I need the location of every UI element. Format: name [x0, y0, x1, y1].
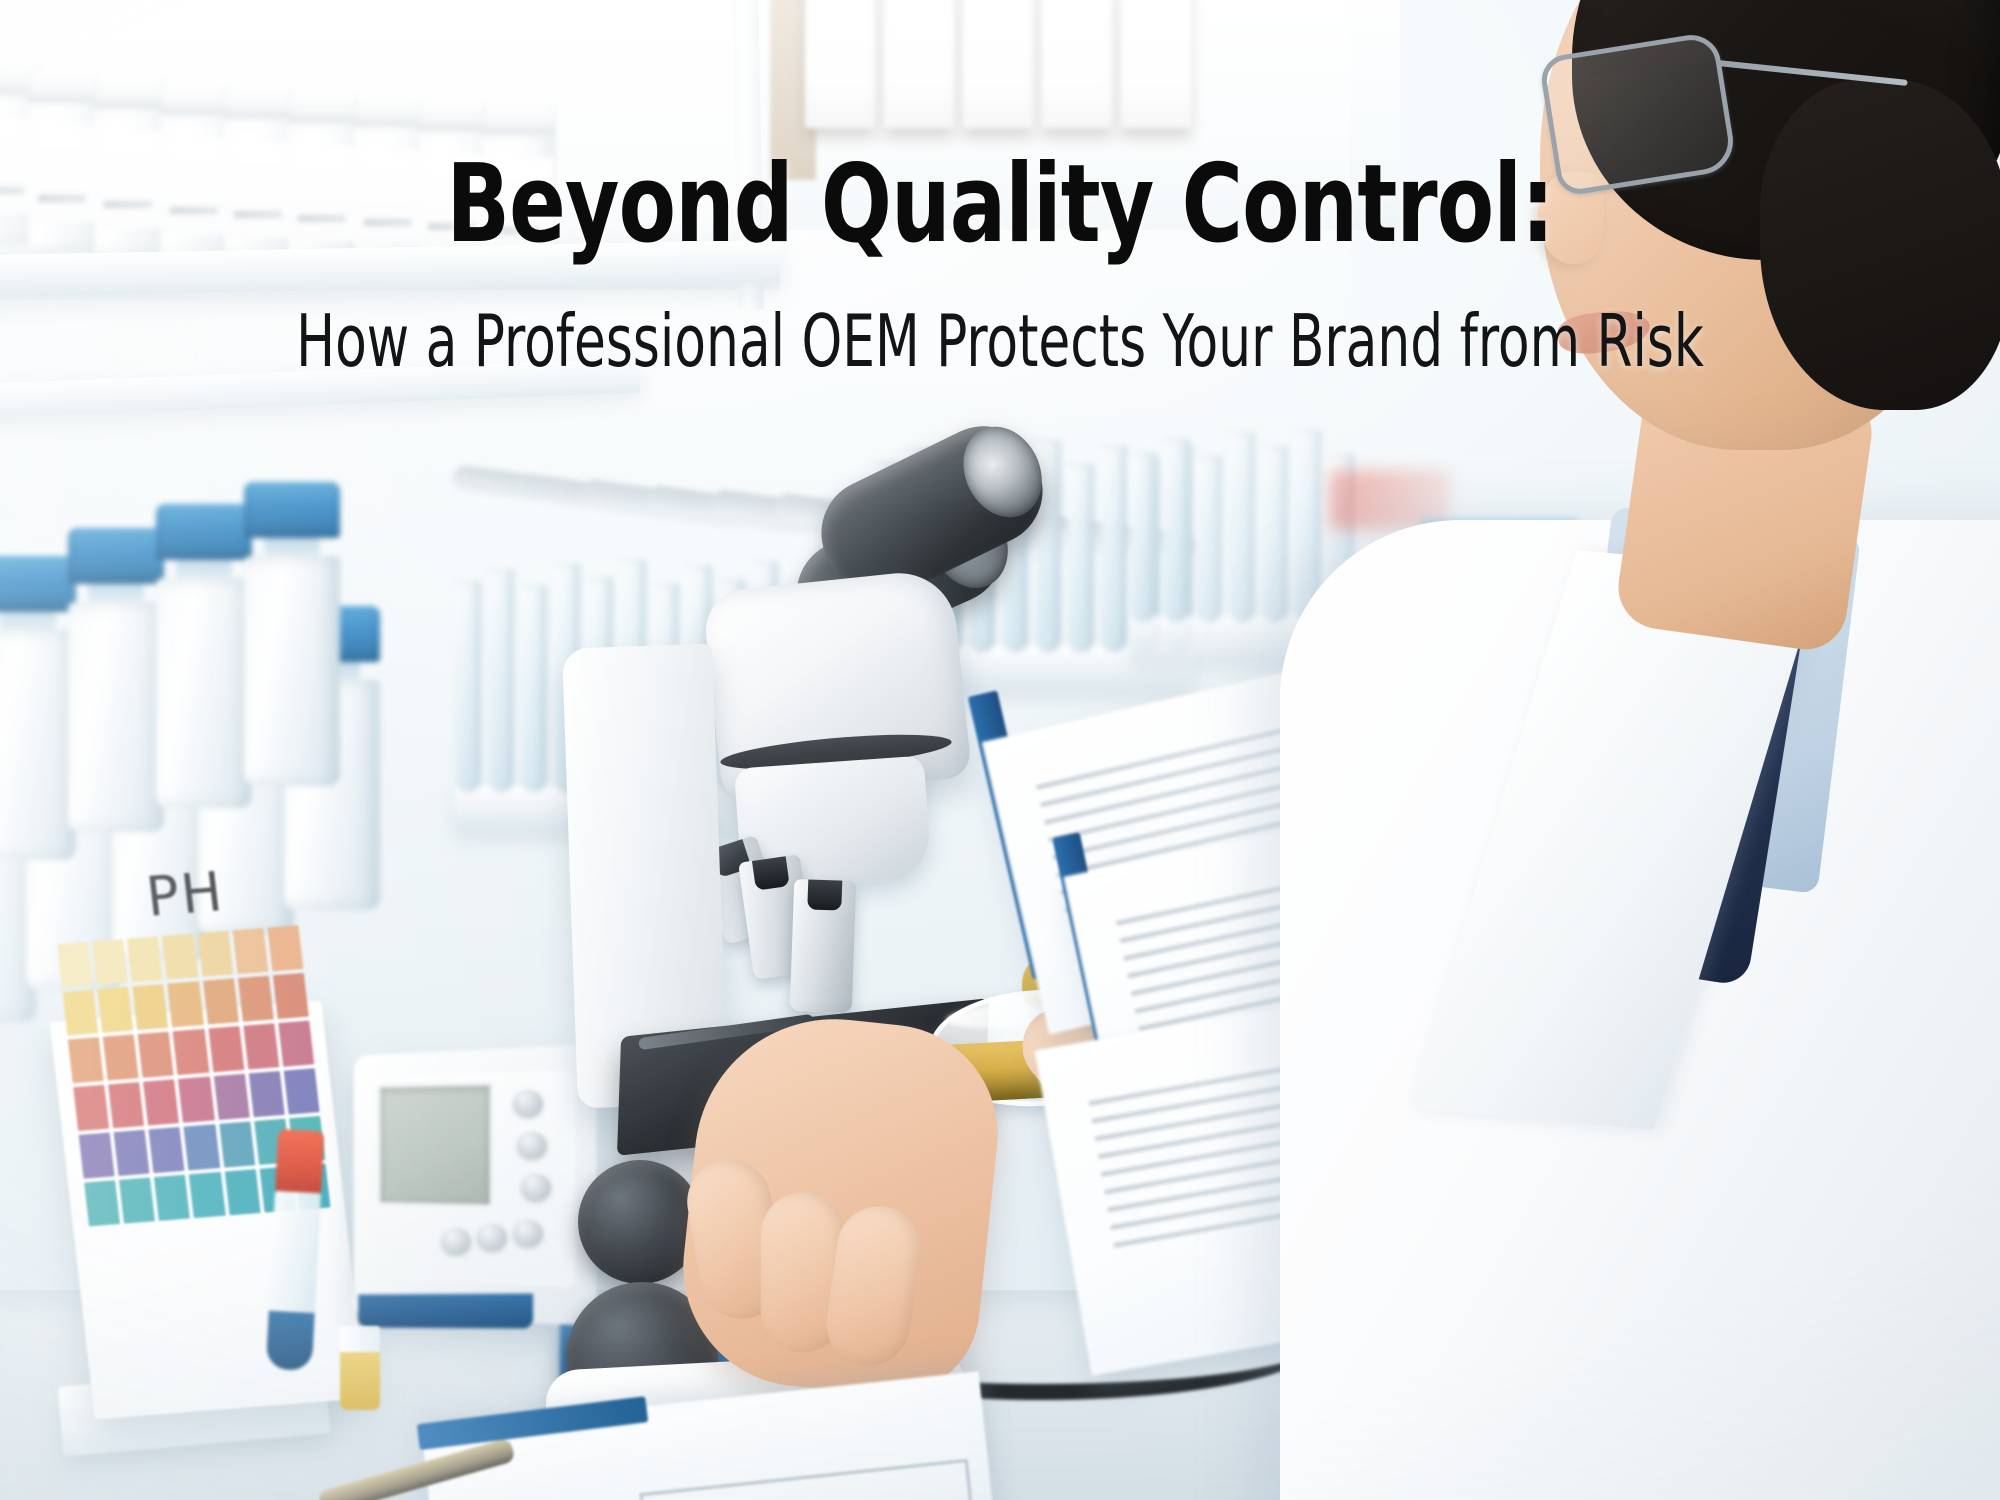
blue-cap-bottle: [244, 482, 340, 786]
eyeglasses: [1548, 4, 1878, 194]
vial: [288, 88, 362, 272]
vial: [160, 80, 234, 264]
ph-meter-instrument: [345, 1050, 595, 1320]
ph-meter-button[interactable]: [514, 1090, 543, 1116]
hero-banner: PH: [0, 0, 2000, 1500]
ph-meter-button[interactable]: [514, 1220, 543, 1246]
lab-photo-scene: PH: [0, 0, 2000, 1500]
blue-cap-bottle: [68, 528, 164, 832]
ph-meter-lcd-display: [378, 1083, 493, 1208]
ph-meter-button[interactable]: [518, 1132, 547, 1158]
vial: [94, 74, 168, 258]
storage-box-row: [805, 0, 1191, 128]
microscope-objective-lens: [790, 879, 857, 1013]
ph-meter-button[interactable]: [442, 1228, 471, 1254]
scientist: [1160, 0, 2000, 1500]
small-sample-vial: [340, 1326, 380, 1410]
ph-meter-button[interactable]: [478, 1224, 507, 1250]
blue-cap-bottle: [156, 504, 252, 808]
blue-cap-bottle: [0, 556, 76, 860]
vial: [224, 84, 298, 268]
ph-meter-button[interactable]: [522, 1174, 551, 1200]
vial: [28, 68, 102, 252]
